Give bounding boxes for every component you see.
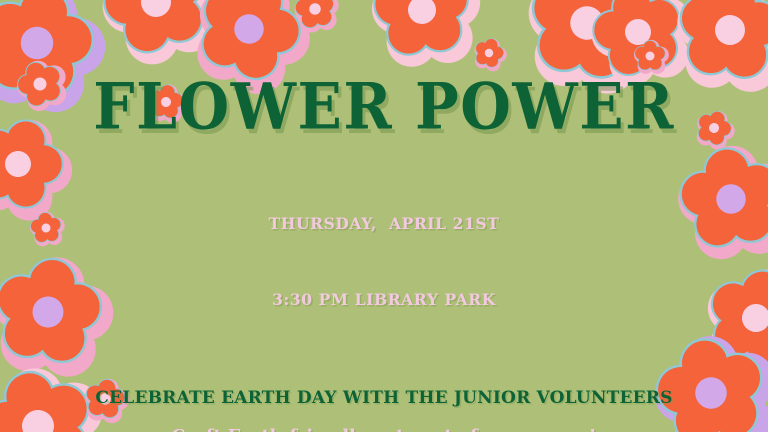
event-time-location: 3:30 PM LIBRARY PARK [269,287,500,312]
page-title: FLOWER POWER [93,75,675,139]
event-datetime: THURSDAY, APRIL 21ST 3:30 PM LIBRARY PAR… [269,161,500,362]
event-date: THURSDAY, APRIL 21ST [269,211,500,236]
flower-power-event-poster: FLOWER POWER THURSDAY, APRIL 21ST 3:30 P… [0,0,768,432]
event-headline: CELEBRATE EARTH DAY WITH THE JUNIOR VOLU… [95,388,672,408]
poster-content: FLOWER POWER THURSDAY, APRIL 21ST 3:30 P… [0,0,768,432]
activity-item: Craft Earth-friendly pots out of newspap… [172,427,597,432]
